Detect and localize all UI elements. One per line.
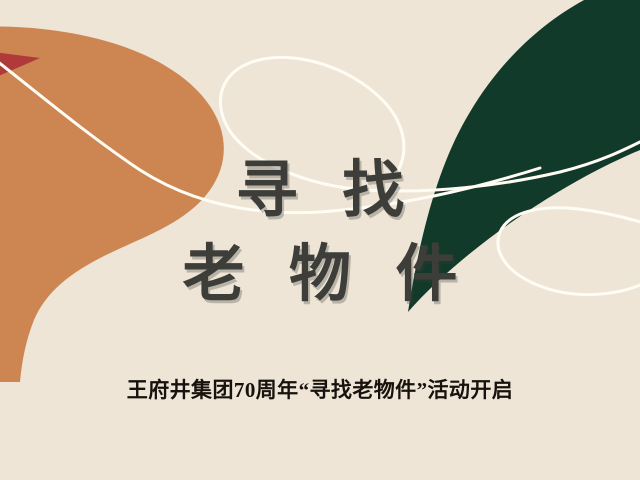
text-layer: 寻 找 老 物 件 王府井集团70周年“寻找老物件”活动开启 [0, 0, 640, 480]
poster-title: 寻 找 老 物 件 [0, 160, 640, 306]
title-line-2: 老 物 件 [0, 244, 640, 306]
poster-subtitle: 王府井集团70周年“寻找老物件”活动开启 [0, 378, 640, 403]
poster-canvas: 寻 找 老 物 件 王府井集团70周年“寻找老物件”活动开启 [0, 0, 640, 480]
title-line-1: 寻 找 [0, 160, 640, 222]
